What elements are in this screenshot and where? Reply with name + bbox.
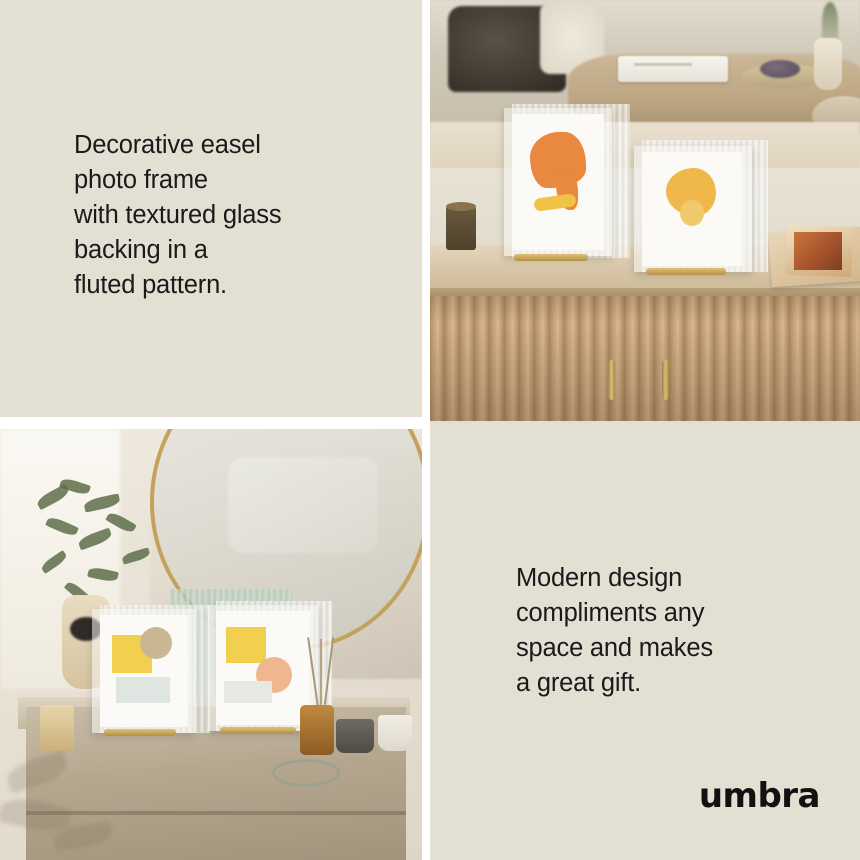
photo-scene-sideboard bbox=[430, 0, 860, 421]
cabinet-handle-left bbox=[608, 360, 615, 400]
olive-branch-plant bbox=[26, 481, 176, 611]
reed-stick bbox=[324, 637, 334, 705]
leaf bbox=[77, 528, 113, 551]
eyeglasses bbox=[272, 759, 340, 787]
frame-c-artwork-pale-block bbox=[116, 677, 170, 703]
reed-stick bbox=[320, 639, 322, 709]
frame-b-artwork-circle bbox=[680, 200, 704, 226]
frame-b-brass-easel-bar bbox=[646, 268, 726, 275]
reed-stick bbox=[307, 637, 319, 707]
postcard-artwork bbox=[794, 232, 842, 270]
cabinet-shading bbox=[430, 296, 860, 421]
leaf bbox=[83, 493, 121, 512]
perfume-bottle bbox=[40, 705, 74, 751]
white-cup bbox=[378, 715, 412, 751]
candle-jar-rim bbox=[446, 202, 476, 211]
product-collage: Decorative easel photo frame with textur… bbox=[0, 0, 860, 860]
cabinet-handle-right bbox=[662, 360, 669, 400]
grapes bbox=[760, 60, 800, 78]
frame-c-brass-easel-bar bbox=[104, 729, 176, 736]
dark-mug bbox=[336, 719, 374, 753]
book-title-line bbox=[634, 63, 692, 66]
copy-panel-top-left: Decorative easel photo frame with textur… bbox=[0, 0, 422, 417]
leaf bbox=[40, 550, 69, 574]
coffee-table-book bbox=[618, 56, 728, 82]
amber-diffuser-bottle bbox=[300, 705, 334, 755]
dresser-drawer-line bbox=[26, 811, 406, 815]
lifestyle-photo-bedroom bbox=[0, 429, 422, 860]
lifestyle-photo-sideboard bbox=[430, 0, 860, 421]
brand-wordmark-umbra: umbra bbox=[699, 776, 820, 816]
copy-panel-bottom-right: Modern design compliments any space and … bbox=[430, 421, 860, 860]
leaf bbox=[121, 547, 151, 564]
frame-d-artwork-yellow-square bbox=[226, 627, 266, 663]
headline-copy-bottom-right: Modern design compliments any space and … bbox=[516, 561, 713, 701]
frame-d-artwork-pale-block bbox=[224, 681, 272, 703]
photo-scene-bedroom bbox=[0, 429, 422, 860]
branch-stems bbox=[822, 2, 838, 42]
frame-d-brass-easel-bar bbox=[220, 727, 296, 734]
candle-jar bbox=[446, 206, 476, 250]
ceramic-vase bbox=[814, 38, 842, 90]
leaf bbox=[45, 515, 79, 538]
frame-a-brass-easel-bar bbox=[514, 254, 588, 261]
frame-c-artwork-circle bbox=[140, 627, 172, 659]
headline-copy-top-left: Decorative easel photo frame with textur… bbox=[74, 128, 281, 303]
reed-diffuser-sticks bbox=[308, 637, 334, 709]
leaf bbox=[87, 566, 119, 583]
